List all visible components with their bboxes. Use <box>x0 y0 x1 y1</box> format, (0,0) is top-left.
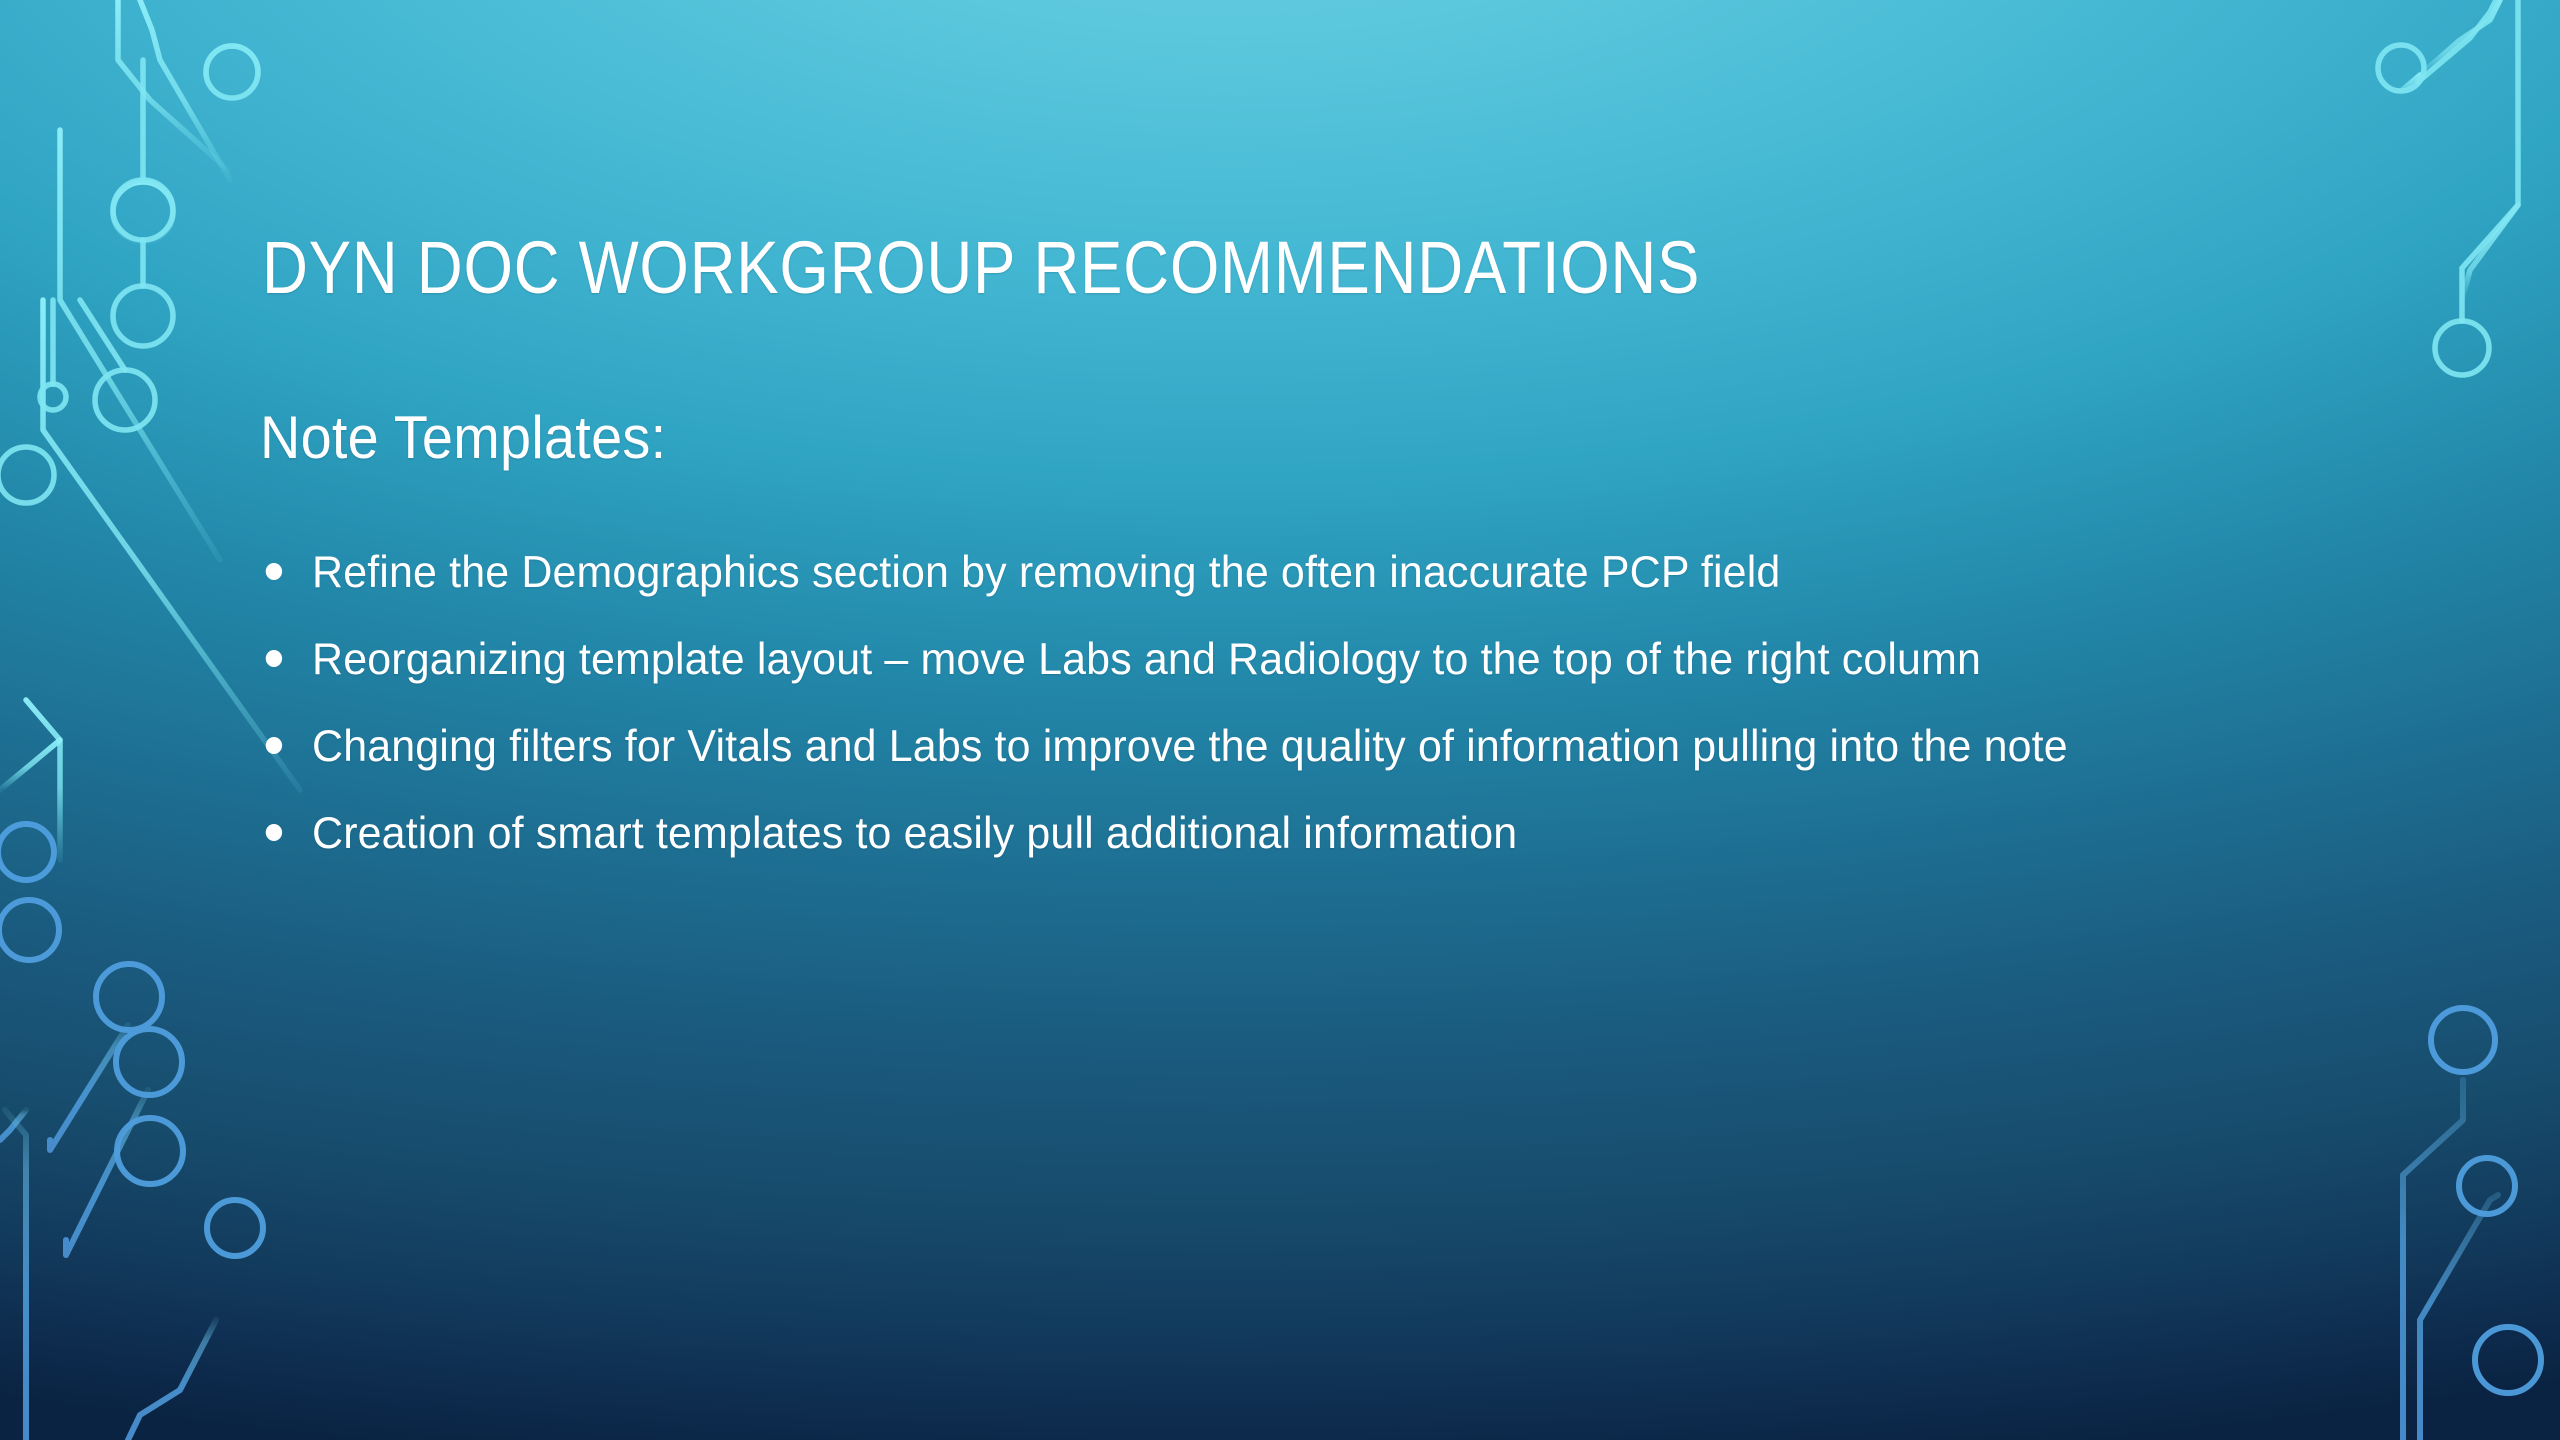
list-item-text: Refine the Demographics section by remov… <box>312 545 2126 602</box>
list-item: Creation of smart templates to easily pu… <box>258 806 2198 863</box>
list-item-text: Changing filters for Vitals and Labs to … <box>312 719 2126 776</box>
bullet-dot-icon <box>266 824 282 841</box>
list-item: Reorganizing template layout – move Labs… <box>258 632 2198 689</box>
bullet-dot-icon <box>266 650 282 667</box>
slide-content: Dyn Doc Workgroup Recommendations Note T… <box>0 0 2560 1440</box>
presentation-slide: Dyn Doc Workgroup Recommendations Note T… <box>0 0 2560 1440</box>
list-item-text: Creation of smart templates to easily pu… <box>312 806 2126 863</box>
list-item: Refine the Demographics section by remov… <box>258 545 2198 602</box>
list-item: Changing filters for Vitals and Labs to … <box>258 719 2198 776</box>
bullet-dot-icon <box>266 737 282 754</box>
section-subtitle: Note Templates: <box>260 406 666 469</box>
bullet-dot-icon <box>266 563 282 580</box>
bullet-list: Refine the Demographics section by remov… <box>258 545 2268 893</box>
list-item-text: Reorganizing template layout – move Labs… <box>312 632 2126 689</box>
page-title: Dyn Doc Workgroup Recommendations <box>262 231 1991 305</box>
